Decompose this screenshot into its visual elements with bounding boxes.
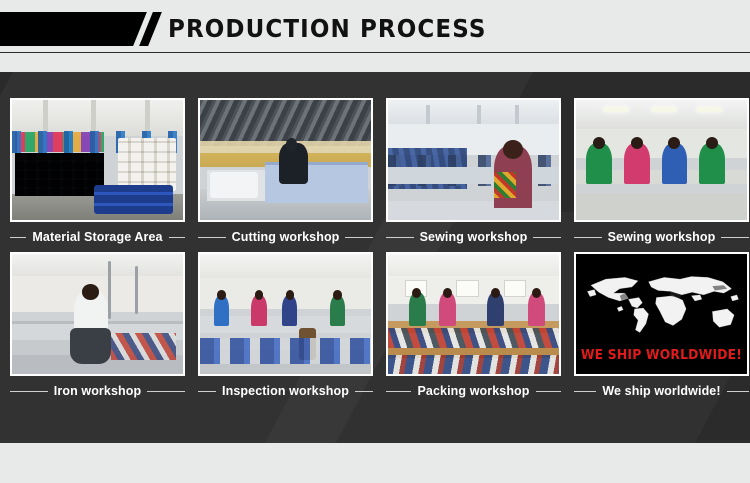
caption-line-left — [574, 237, 602, 238]
page-title: PRODUCTION PROCESS — [168, 13, 487, 45]
caption-line-left — [386, 237, 414, 238]
caption-line-right — [345, 237, 373, 238]
gallery-rows: Material Storage Area — [0, 72, 750, 406]
scene-sewing-a — [388, 100, 559, 220]
caption-line-left — [198, 391, 216, 392]
caption-line-right — [536, 391, 561, 392]
caption-line-right — [727, 391, 749, 392]
caption-label: Material Storage Area — [32, 230, 162, 244]
page-footer — [0, 443, 750, 483]
gallery-cell: Iron workshop — [10, 252, 185, 406]
scene-sewing-b — [576, 100, 747, 220]
scene-inspection — [200, 254, 371, 374]
caption-row: Material Storage Area — [10, 222, 185, 252]
photo-material-storage-area[interactable] — [10, 98, 185, 222]
scene-world-map: WE SHIP WORLDWIDE! — [576, 254, 747, 374]
gallery-cell: Material Storage Area — [10, 98, 185, 252]
caption-line-right — [721, 237, 749, 238]
photo-cutting-workshop[interactable] — [198, 98, 373, 222]
production-process-page: PRODUCTION PROCESS — [0, 0, 750, 483]
scene-warehouse — [12, 100, 183, 220]
caption-line-left — [386, 391, 411, 392]
gallery-cell: Cutting workshop — [198, 98, 373, 252]
caption-label: Sewing workshop — [420, 230, 528, 244]
gallery-cell: Inspection workshop — [198, 252, 373, 406]
page-header: PRODUCTION PROCESS — [0, 0, 750, 53]
ship-worldwide-text: WE SHIP WORLDWIDE! — [580, 348, 742, 363]
gallery-cell: Sewing workshop — [386, 98, 561, 252]
caption-line-right — [533, 237, 561, 238]
scene-ironing — [12, 254, 183, 374]
gallery-row-2: Iron workshop — [10, 252, 740, 406]
photo-we-ship-worldwide[interactable]: WE SHIP WORLDWIDE! — [574, 252, 749, 376]
caption-row: Iron workshop — [10, 376, 185, 406]
caption-row: Packing workshop — [386, 376, 561, 406]
caption-row: Cutting workshop — [198, 222, 373, 252]
caption-line-left — [10, 391, 48, 392]
scene-cutting — [200, 100, 371, 220]
scene-packing — [388, 254, 559, 374]
caption-label: Inspection workshop — [222, 384, 349, 398]
process-gallery-panel: Material Storage Area — [0, 72, 750, 443]
caption-label: Cutting workshop — [232, 230, 340, 244]
photo-iron-workshop[interactable] — [10, 252, 185, 376]
caption-line-left — [10, 237, 26, 238]
caption-row: Sewing workshop — [574, 222, 749, 252]
gallery-cell: Packing workshop — [386, 252, 561, 406]
gallery-cell: Sewing workshop — [574, 98, 749, 252]
photo-sewing-workshop-2[interactable] — [574, 98, 749, 222]
caption-line-left — [574, 391, 596, 392]
photo-sewing-workshop-1[interactable] — [386, 98, 561, 222]
caption-row: We ship worldwide! — [574, 376, 749, 406]
caption-label: Iron workshop — [54, 384, 141, 398]
caption-line-left — [198, 237, 226, 238]
photo-packing-workshop[interactable] — [386, 252, 561, 376]
caption-label: Sewing workshop — [608, 230, 716, 244]
caption-row: Sewing workshop — [386, 222, 561, 252]
world-map-icon — [583, 266, 740, 340]
caption-label: We ship worldwide! — [602, 384, 720, 398]
caption-label: Packing workshop — [417, 384, 529, 398]
caption-line-right — [169, 237, 185, 238]
caption-line-right — [147, 391, 185, 392]
gallery-cell: WE SHIP WORLDWIDE! We ship worldwide! — [574, 252, 749, 406]
gallery-row-1: Material Storage Area — [10, 98, 740, 252]
photo-inspection-workshop[interactable] — [198, 252, 373, 376]
caption-row: Inspection workshop — [198, 376, 373, 406]
caption-line-right — [355, 391, 373, 392]
